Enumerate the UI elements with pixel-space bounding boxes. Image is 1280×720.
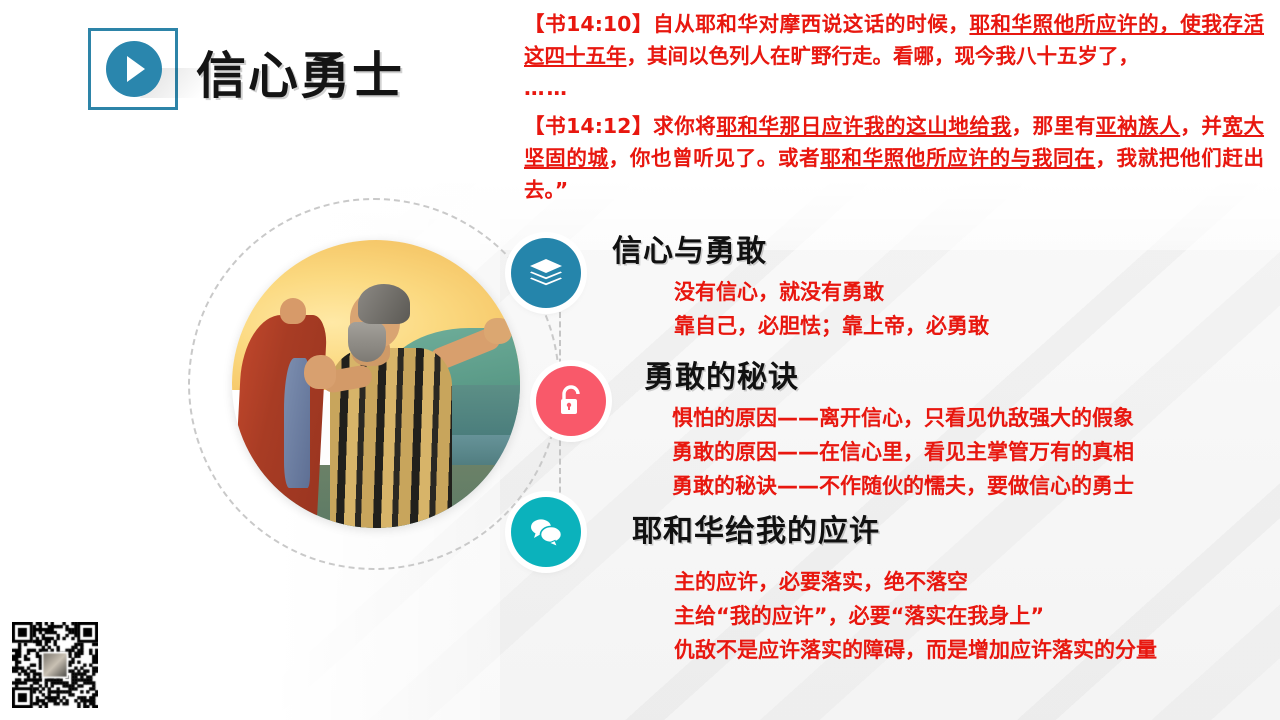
section-2-heading: 勇敢的秘诀 xyxy=(644,352,1134,396)
bracket-top-bar xyxy=(114,28,154,31)
chat-bubbles-icon[interactable] xyxy=(511,497,581,567)
unlock-icon[interactable] xyxy=(536,366,606,436)
bullet-line: 勇敢的秘诀——不作随伙的懦夫，要做信心的勇士 xyxy=(672,472,1134,501)
section-1-bullets: 没有信心，就没有勇敢靠自己，必胆怯；靠上帝，必勇敢 xyxy=(674,278,989,341)
slide-canvas: 信心勇士 【书14:10】自从耶和华对摩西说这话的时候，耶和华照他所应许的，使我… xyxy=(0,0,1280,720)
verse-text: ，并 xyxy=(1180,114,1222,138)
illustration-image xyxy=(232,240,520,528)
page-title: 信心勇士 xyxy=(196,36,404,108)
bullet-line: 惧怕的原因——离开信心，只看见仇敌强大的假象 xyxy=(672,404,1134,433)
play-circle-icon xyxy=(106,41,162,97)
scripture-block: 【书14:10】自从耶和华对摩西说这话的时候，耶和华照他所应许的，使我存活这四十… xyxy=(524,8,1264,212)
verse-text: 求你将 xyxy=(653,114,716,138)
section-2-bullets: 惧怕的原因——离开信心，只看见仇敌强大的假象勇敢的原因——在信心里，看见主掌管万… xyxy=(672,404,1134,501)
section-3-heading: 耶和华给我的应许 xyxy=(632,506,1157,550)
verse-reference: 【书14:12】 xyxy=(524,114,653,138)
bullet-line: 没有信心，就没有勇敢 xyxy=(674,278,989,307)
bullet-line: 靠自己，必胆怯；靠上帝，必勇敢 xyxy=(674,312,989,341)
verse-underlined-text: 亚衲族人 xyxy=(1096,114,1180,138)
section-2: 勇敢的秘诀 惧怕的原因——离开信心，只看见仇敌强大的假象勇敢的原因——在信心里，… xyxy=(644,352,1134,506)
verse-text: ，那里有 xyxy=(1012,114,1096,138)
bullet-line: 主的应许，必要落实，绝不落空 xyxy=(674,568,1157,597)
section-3: 耶和华给我的应许 主的应许，必要落实，绝不落空主给“我的应许”，必要“落实在我身… xyxy=(632,506,1157,670)
verse-text: ，你也曾听见了。或者 xyxy=(609,146,821,170)
connector-line-2 xyxy=(559,440,561,502)
qr-code[interactable] xyxy=(12,622,98,708)
verse-1: 【书14:10】自从耶和华对摩西说这话的时候，耶和华照他所应许的，使我存活这四十… xyxy=(524,8,1264,104)
bullet-line: 勇敢的原因——在信心里，看见主掌管万有的真相 xyxy=(672,438,1134,467)
connector-line-1 xyxy=(559,312,561,374)
section-1: 信心与勇敢 没有信心，就没有勇敢靠自己，必胆怯；靠上帝，必勇敢 xyxy=(612,226,989,346)
verse-text: ，其间以色列人在旷野行走。看哪，现今我八十五岁了， xyxy=(627,44,1140,68)
bracket-bottom-bar xyxy=(114,107,154,110)
verse-reference: 【书14:10】 xyxy=(524,12,653,36)
brand-logo xyxy=(88,28,184,116)
bullet-line: 主给“我的应许”，必要“落实在我身上” xyxy=(674,602,1157,631)
section-1-heading: 信心与勇敢 xyxy=(612,226,989,270)
layers-icon[interactable] xyxy=(511,238,581,308)
verse-underlined-text: 耶和华那日应许我的这山地给我 xyxy=(716,114,1011,138)
bullet-line: 仇敌不是应许落实的障碍，而是增加应许落实的分量 xyxy=(674,636,1157,665)
section-3-bullets: 主的应许，必要落实，绝不落空主给“我的应许”，必要“落实在我身上”仇敌不是应许落… xyxy=(674,568,1157,665)
bracket-left-bar xyxy=(88,46,91,94)
verse-ellipsis: …… xyxy=(524,72,1264,104)
verse-text: 自从耶和华对摩西说这话的时候， xyxy=(653,12,969,36)
verse-2: 【书14:12】求你将耶和华那日应许我的这山地给我，那里有亚衲族人，并宽大坚固的… xyxy=(524,110,1264,206)
verse-underlined-text: 耶和华照他所应许的与我同在 xyxy=(820,146,1095,170)
